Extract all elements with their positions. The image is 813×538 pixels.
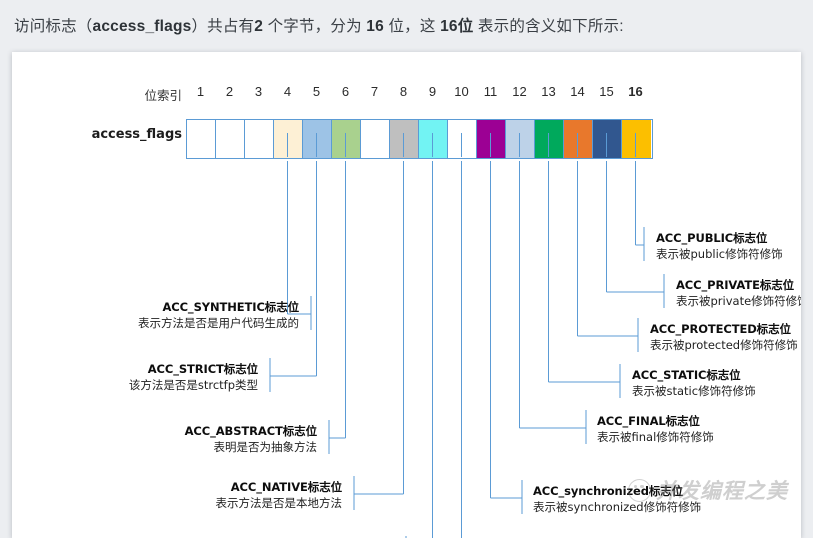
callout-title-acc-strict: ACC_STRICT标志位 bbox=[129, 362, 258, 378]
bit-number-2: 2 bbox=[215, 84, 244, 99]
callout-title-acc-private: ACC_PRIVATE标志位 bbox=[676, 278, 801, 294]
bit-number-1: 1 bbox=[186, 84, 215, 99]
callout-title-acc-protected: ACC_PROTECTED标志位 bbox=[650, 322, 798, 338]
bit-number-3: 3 bbox=[244, 84, 273, 99]
bit-number-13: 13 bbox=[534, 84, 563, 99]
callout-acc-synchronized: ACC_synchronized标志位表示被synchronized修饰符修饰 bbox=[533, 484, 701, 515]
callout-acc-abstract: ACC_ABSTRACT标志位表明是否为抽象方法 bbox=[185, 424, 317, 455]
bit-number-6: 6 bbox=[331, 84, 360, 99]
callout-desc-acc-public: 表示被public修饰符修饰 bbox=[656, 247, 783, 263]
bit-number-16: 16 bbox=[621, 84, 650, 99]
callout-desc-acc-synchronized: 表示被synchronized修饰符修饰 bbox=[533, 500, 701, 516]
callout-desc-acc-native: 表示方法是否是本地方法 bbox=[216, 496, 343, 512]
page-title: 访问标志（access_flags）共占有2 个字节，分为 16 位，这 16位… bbox=[14, 14, 624, 36]
callout-acc-public: ACC_PUBLIC标志位表示被public修饰符修饰 bbox=[656, 231, 783, 262]
bit-index-label: 位索引 bbox=[98, 85, 182, 104]
bit-cell-9[interactable] bbox=[419, 120, 448, 158]
callout-desc-acc-static: 表示被static修饰符修饰 bbox=[632, 384, 756, 400]
bit-number-15: 15 bbox=[592, 84, 621, 99]
callout-desc-acc-final: 表示被final修饰符修饰 bbox=[597, 430, 714, 446]
callout-desc-acc-abstract: 表明是否为抽象方法 bbox=[185, 440, 317, 456]
callout-title-acc-abstract: ACC_ABSTRACT标志位 bbox=[185, 424, 317, 440]
callout-desc-acc-strict: 该方法是否是strctfp类型 bbox=[129, 378, 258, 394]
bit-cell-16[interactable] bbox=[622, 120, 651, 158]
callout-acc-private: ACC_PRIVATE标志位表示被private修饰符修饰 bbox=[676, 278, 801, 309]
callout-desc-acc-synthetic: 表示方法是否是用户代码生成的 bbox=[138, 316, 299, 332]
diagram-card: 位索引 12345678910111213141516 access_flags… bbox=[12, 52, 801, 538]
bit-number-12: 12 bbox=[505, 84, 534, 99]
bit-number-9: 9 bbox=[418, 84, 447, 99]
bit-cell-7[interactable] bbox=[361, 120, 390, 158]
callout-acc-strict: ACC_STRICT标志位该方法是否是strctfp类型 bbox=[129, 362, 258, 393]
callout-title-acc-final: ACC_FINAL标志位 bbox=[597, 414, 714, 430]
callout-title-acc-synthetic: ACC_SYNTHETIC标志位 bbox=[138, 300, 299, 316]
bit-number-11: 11 bbox=[476, 84, 505, 99]
bit-cell-13[interactable] bbox=[535, 120, 564, 158]
bit-cell-5[interactable] bbox=[303, 120, 332, 158]
bit-number-10: 10 bbox=[447, 84, 476, 99]
bit-number-8: 8 bbox=[389, 84, 418, 99]
bit-cell-11[interactable] bbox=[477, 120, 506, 158]
callout-acc-final: ACC_FINAL标志位表示被final修饰符修饰 bbox=[597, 414, 714, 445]
callout-title-acc-static: ACC_STATIC标志位 bbox=[632, 368, 756, 384]
bit-number-7: 7 bbox=[360, 84, 389, 99]
bit-number-5: 5 bbox=[302, 84, 331, 99]
access-flags-label: access_flags bbox=[60, 127, 182, 142]
callout-desc-acc-protected: 表示被protected修饰符修饰 bbox=[650, 338, 798, 354]
callout-title-acc-public: ACC_PUBLIC标志位 bbox=[656, 231, 783, 247]
bit-cell-10[interactable] bbox=[448, 120, 477, 158]
bit-cell-15[interactable] bbox=[593, 120, 622, 158]
bit-cell-8[interactable] bbox=[390, 120, 419, 158]
callout-desc-acc-private: 表示被private修饰符修饰 bbox=[676, 294, 801, 310]
bit-cell-3[interactable] bbox=[245, 120, 274, 158]
callout-acc-static: ACC_STATIC标志位表示被static修饰符修饰 bbox=[632, 368, 756, 399]
bit-cell-12[interactable] bbox=[506, 120, 535, 158]
bit-cell-6[interactable] bbox=[332, 120, 361, 158]
callout-acc-synthetic: ACC_SYNTHETIC标志位表示方法是否是用户代码生成的 bbox=[138, 300, 299, 331]
callout-title-acc-native: ACC_NATIVE标志位 bbox=[216, 480, 343, 496]
bit-cell-2[interactable] bbox=[216, 120, 245, 158]
bit-cell-1[interactable] bbox=[187, 120, 216, 158]
callout-title-acc-synchronized: ACC_synchronized标志位 bbox=[533, 484, 701, 500]
bit-number-14: 14 bbox=[563, 84, 592, 99]
callout-acc-native: ACC_NATIVE标志位表示方法是否是本地方法 bbox=[216, 480, 343, 511]
callout-acc-protected: ACC_PROTECTED标志位表示被protected修饰符修饰 bbox=[650, 322, 798, 353]
access-flags-diagram: 位索引 12345678910111213141516 access_flags… bbox=[12, 52, 801, 538]
bit-number-4: 4 bbox=[273, 84, 302, 99]
bit-cell-14[interactable] bbox=[564, 120, 593, 158]
bit-cell-4[interactable] bbox=[274, 120, 303, 158]
screenshot-root: 访问标志（access_flags）共占有2 个字节，分为 16 位，这 16位… bbox=[0, 0, 813, 534]
access-flags-bit-bar bbox=[186, 119, 653, 159]
